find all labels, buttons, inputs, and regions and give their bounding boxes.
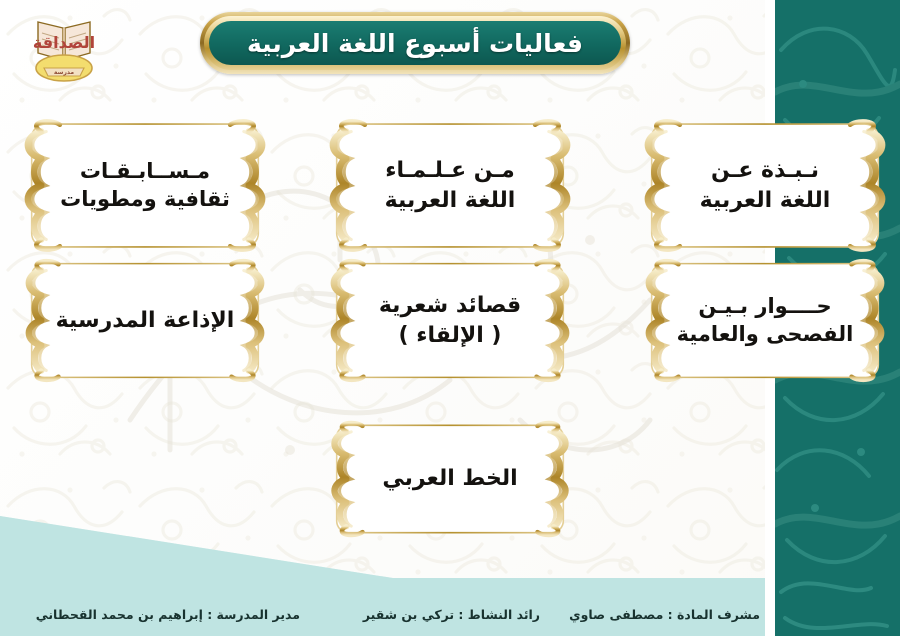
poster-root: الصداقة مدرسة فعاليات أسبوع اللغة العربي… xyxy=(0,0,900,636)
page-title: فعاليات أسبوع اللغة العربية xyxy=(247,29,583,58)
card-label: قصائد شعرية ( الإلقاء ) xyxy=(345,291,555,349)
card-arabic-scholars[interactable]: مـن عـلـمـاء اللغة العربية xyxy=(325,118,575,253)
logo-book-label: الصداقة xyxy=(33,33,95,52)
school-logo: الصداقة مدرسة xyxy=(26,8,102,86)
card-label: مـســابـقـات ثقافية ومطويات xyxy=(26,158,264,213)
card-label: الإذاعة المدرسية xyxy=(22,306,269,335)
card-label: حــــوار بـيـن الفصحى والعامية xyxy=(643,293,888,348)
footer-school-principal: مدير المدرسة : إبراهيم بن محمد القحطاني xyxy=(36,607,300,622)
card-label: نـبـذة عـن اللغة العربية xyxy=(666,156,865,214)
card-label: الخط العربي xyxy=(348,464,551,493)
card-label: مـن عـلـمـاء اللغة العربية xyxy=(351,156,550,214)
card-cultural-competitions[interactable]: مـســابـقـات ثقافية ومطويات xyxy=(20,118,270,253)
footer-activity-leader: رائد النشاط : تركي بن شقير xyxy=(363,607,540,622)
banner-inner-teal: فعاليات أسبوع اللغة العربية xyxy=(209,21,621,65)
card-arabic-calligraphy[interactable]: الخط العربي xyxy=(325,420,575,538)
card-poetry-recitation[interactable]: قصائد شعرية ( الإلقاء ) xyxy=(325,258,575,383)
logo-ribbon-label: مدرسة xyxy=(54,69,74,76)
card-about-arabic-language[interactable]: نـبـذة عـن اللغة العربية xyxy=(640,118,890,253)
card-fusha-ammiya-dialogue[interactable]: حــــوار بـيـن الفصحى والعامية xyxy=(640,258,890,383)
title-banner: فعاليات أسبوع اللغة العربية xyxy=(200,12,630,74)
card-school-broadcast[interactable]: الإذاعة المدرسية xyxy=(20,258,270,383)
footer-subject-supervisor: مشرف المادة : مصطفى صاوي xyxy=(569,607,760,622)
footer-teal-pattern xyxy=(775,578,900,636)
footer-teal-block xyxy=(775,578,900,636)
